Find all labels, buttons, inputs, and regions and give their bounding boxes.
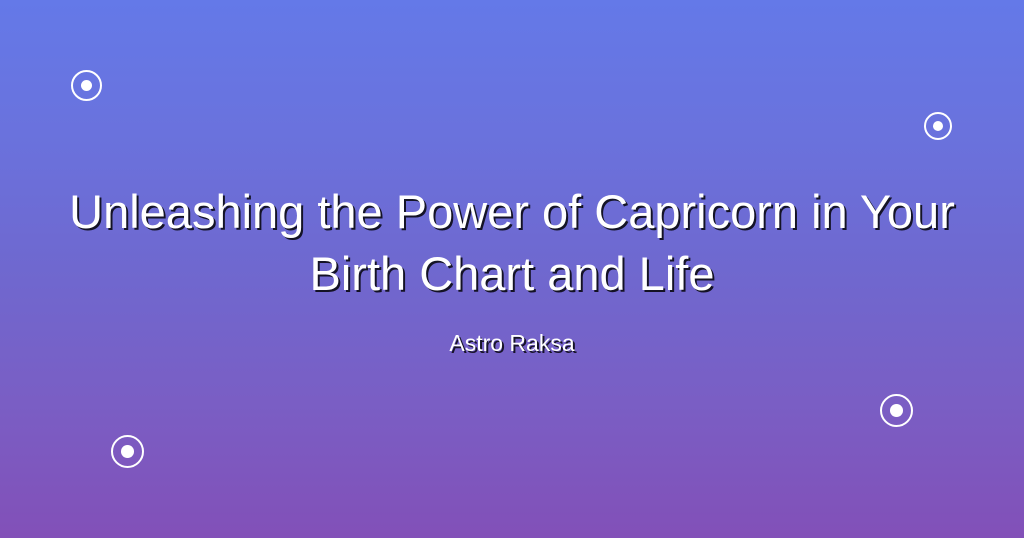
- slide-subtitle: Astro Raksa: [449, 329, 574, 357]
- slide-title: Unleashing the Power of Capricorn in You…: [52, 181, 972, 305]
- slide-content: Unleashing the Power of Capricorn in You…: [0, 0, 1024, 538]
- presentation-slide: Unleashing the Power of Capricorn in You…: [0, 0, 1024, 538]
